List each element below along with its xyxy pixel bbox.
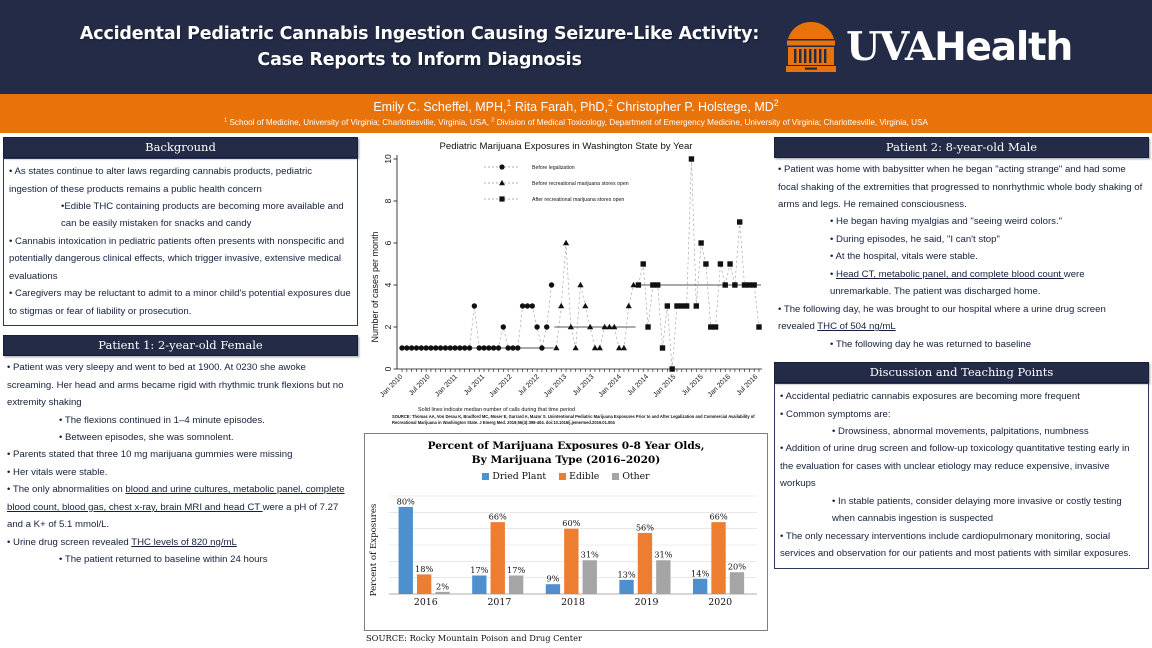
svg-text:Before recreational marijuana: Before recreational marijuana stores ope… <box>532 181 629 187</box>
bar <box>693 578 707 593</box>
body-line: • During episodes, he said, "I can't sto… <box>778 231 1145 248</box>
author-affiliations: 1 School of Medicine, University of Virg… <box>10 117 1142 128</box>
title-line-2: Case Reports to Inform Diagnosis <box>80 47 759 73</box>
bar-legend-item: Other <box>612 471 649 482</box>
column-left: Background • As states continue to alter… <box>3 137 358 645</box>
line-chart-x-axis: Jan 2010Jul 2010Jan 2011Jul 2011Jan 2012… <box>379 369 762 399</box>
body-line: • Head CT, metabolic panel, and complete… <box>778 266 1145 301</box>
bar-value-label: 31% <box>581 549 599 559</box>
legend-swatch <box>612 473 619 480</box>
bar-value-label: 20% <box>728 561 746 571</box>
body-line: • Patient was very sleepy and went to be… <box>7 359 354 411</box>
bar-value-label: 31% <box>654 549 672 559</box>
author-bar: Emily C. Scheffel, MPH,1 Rita Farah, PhD… <box>0 94 1152 133</box>
svg-text:Jul 2011: Jul 2011 <box>463 373 486 396</box>
legend-label: Other <box>622 471 649 482</box>
line-chart-y-axis: 0246810 <box>383 154 397 371</box>
bar-category-label: 2020 <box>708 597 732 608</box>
svg-text:Jan 2014: Jan 2014 <box>598 373 623 398</box>
body-line: • Drowsiness, abnormal movements, palpit… <box>780 423 1143 440</box>
patient2-heading: Patient 2: 8-year-old Male <box>774 137 1149 158</box>
body-line: • In stable patients, consider delaying … <box>780 493 1143 528</box>
bar <box>399 507 413 594</box>
body-line: • Cannabis intoxication in pediatric pat… <box>9 233 352 285</box>
bar-value-label: 17% <box>470 565 488 575</box>
bar-value-label: 56% <box>636 522 654 532</box>
bar-legend-item: Edible <box>559 471 599 482</box>
bar-value-label: 13% <box>617 569 635 579</box>
body-line: • Accidental pediatric cannabis exposure… <box>780 388 1143 405</box>
line-chart: Pediatric Marijuana Exposures in Washing… <box>364 137 768 429</box>
poster-header: Accidental Pediatric Cannabis Ingestion … <box>0 0 1152 94</box>
line-chart-plot-area <box>399 156 761 371</box>
body-line: • Between episodes, she was somnolent. <box>7 429 354 446</box>
bar-chart: Percent of Marijuana Exposures 0-8 Year … <box>364 433 768 631</box>
svg-text:10: 10 <box>383 154 393 164</box>
svg-text:4: 4 <box>383 282 393 287</box>
bar-value-label: 66% <box>709 511 727 521</box>
bar-category-label: 2019 <box>635 597 659 608</box>
bar-value-label: 66% <box>489 511 507 521</box>
line-chart-svg: Pediatric Marijuana Exposures in Washing… <box>364 137 768 407</box>
legend-label: Dried Plant <box>492 471 546 482</box>
svg-text:Jul 2016: Jul 2016 <box>736 373 760 397</box>
patient2-body: • Patient was home with babysitter when … <box>774 158 1149 356</box>
legend-swatch <box>559 473 566 480</box>
legend-label: Edible <box>569 471 599 482</box>
background-heading: Background <box>3 137 358 158</box>
bar <box>564 528 578 593</box>
bar-value-label: 80% <box>397 496 415 506</box>
bar-category-label: 2018 <box>561 597 585 608</box>
body-line: • The only necessary interventions inclu… <box>780 528 1143 563</box>
svg-text:8: 8 <box>383 198 393 203</box>
bar-value-label: 60% <box>562 518 580 528</box>
bar-chart-y-label: Percent of Exposures <box>369 503 379 596</box>
svg-text:0: 0 <box>383 366 393 371</box>
author-names: Emily C. Scheffel, MPH,1 Rita Farah, PhD… <box>10 98 1142 116</box>
bar-value-label: 18% <box>415 564 433 574</box>
bar-value-label: 9% <box>546 573 559 583</box>
poster-body: Background • As states continue to alter… <box>0 133 1152 645</box>
patient1-heading: Patient 1: 2-year-old Female <box>3 335 358 356</box>
body-line: • Caregivers may be reluctant to admit t… <box>9 285 352 320</box>
bar-chart-title: Percent of Marijuana Exposures 0-8 Year … <box>365 434 767 468</box>
bar <box>509 575 523 594</box>
bar-chart-source: SOURCE: Rocky Mountain Poison and Drug C… <box>364 631 768 643</box>
line-chart-title: Pediatric Marijuana Exposures in Washing… <box>440 141 694 152</box>
svg-text:Jul 2013: Jul 2013 <box>572 373 596 397</box>
body-line: • Common symptoms are: <box>780 406 1143 423</box>
line-chart-y-label: Number of cases per month <box>370 232 380 343</box>
bar <box>583 560 597 594</box>
bar-chart-title-line2: By Marijuana Type (2016–2020) <box>365 454 767 468</box>
uva-health-wordmark: UVAHealth <box>846 28 1072 67</box>
line-chart-citation: SOURCE: Thomas AA, Von Derau K, Bradford… <box>392 414 768 426</box>
body-line: • The only abnormalities on blood and ur… <box>7 481 354 533</box>
body-line: • Parents stated that three 10 mg mariju… <box>7 446 354 463</box>
discussion-heading: Discussion and Teaching Points <box>774 362 1149 383</box>
body-line: •Edible THC containing products are beco… <box>9 198 352 233</box>
body-line: • Her vitals were stable. <box>7 464 354 481</box>
bar-chart-svg: Percent of Exposures 80%18%2%17%66%17%9%… <box>365 482 765 618</box>
bar <box>546 584 560 594</box>
title-line-1: Accidental Pediatric Cannabis Ingestion … <box>80 21 759 47</box>
page-title: Accidental Pediatric Cannabis Ingestion … <box>80 21 759 74</box>
svg-text:Before legalization: Before legalization <box>532 165 575 171</box>
svg-text:Jan 2010: Jan 2010 <box>379 373 404 398</box>
discussion-body: • Accidental pediatric cannabis exposure… <box>774 383 1149 569</box>
bar <box>435 591 449 593</box>
svg-text:2: 2 <box>383 324 393 329</box>
body-line: • The following day, he was brought to o… <box>778 301 1145 336</box>
logo-uva-text: UVA <box>846 24 934 70</box>
svg-text:Jan 2015: Jan 2015 <box>652 373 677 398</box>
bar-category-label: 2017 <box>487 597 511 608</box>
bar-category-label: 2016 <box>414 597 438 608</box>
body-line: • Patient was home with babysitter when … <box>778 161 1145 213</box>
uva-health-logo: UVAHealth <box>785 20 1072 74</box>
column-right: Patient 2: 8-year-old Male • Patient was… <box>774 137 1149 645</box>
legend-swatch <box>482 473 489 480</box>
svg-text:Jul 2015: Jul 2015 <box>681 373 705 397</box>
body-line: • Urine drug screen revealed THC levels … <box>7 534 354 551</box>
body-line: • He began having myalgias and "seeing w… <box>778 213 1145 230</box>
bar <box>472 575 486 594</box>
svg-text:Jul 2010: Jul 2010 <box>408 373 432 397</box>
background-body: • As states continue to alter laws regar… <box>3 158 358 326</box>
svg-text:Jan 2013: Jan 2013 <box>543 373 568 398</box>
bar <box>638 533 652 594</box>
line-chart-source: Solid lines indicate median number of ca… <box>364 407 768 426</box>
body-line: • As states continue to alter laws regar… <box>9 163 352 198</box>
body-line: • At the hospital, vitals were stable. <box>778 248 1145 265</box>
bar-value-label: 2% <box>436 581 449 591</box>
body-line: • The flexions continued in 1–4 minute e… <box>7 412 354 429</box>
bar <box>711 522 725 594</box>
line-chart-note: Solid lines indicate median number of ca… <box>392 407 768 413</box>
body-line: • The following day he was returned to b… <box>778 336 1145 353</box>
bar-legend-item: Dried Plant <box>482 471 546 482</box>
svg-text:6: 6 <box>383 240 393 245</box>
column-middle: Pediatric Marijuana Exposures in Washing… <box>364 137 768 645</box>
bar <box>417 574 431 594</box>
logo-health-text: Health <box>934 25 1072 70</box>
bar-chart-x-axis: 20162017201820192020 <box>414 597 732 608</box>
bar <box>619 579 633 593</box>
bar <box>730 572 744 594</box>
body-line: • Addition of urine drug screen and foll… <box>780 440 1143 492</box>
line-chart-legend: Before legalizationBefore recreational m… <box>484 164 629 203</box>
bar <box>491 522 505 594</box>
svg-text:Jul 2014: Jul 2014 <box>627 373 651 397</box>
bar <box>656 560 670 594</box>
bar-value-label: 17% <box>507 565 525 575</box>
bar-value-label: 14% <box>691 568 709 578</box>
uva-rotunda-icon <box>785 20 837 74</box>
svg-text:Jul 2012: Jul 2012 <box>517 373 541 397</box>
patient1-body: • Patient was very sleepy and went to be… <box>3 356 358 571</box>
svg-text:After recreational marijuana s: After recreational marijuana stores open <box>532 197 624 203</box>
bar-chart-title-line1: Percent of Marijuana Exposures 0-8 Year … <box>365 440 767 454</box>
body-line: • The patient returned to baseline withi… <box>7 551 354 568</box>
svg-text:Jan 2016: Jan 2016 <box>707 373 732 398</box>
svg-text:Jan 2012: Jan 2012 <box>488 373 513 398</box>
svg-text:Jan 2011: Jan 2011 <box>434 373 459 398</box>
bar-chart-legend: Dried PlantEdibleOther <box>365 471 767 482</box>
